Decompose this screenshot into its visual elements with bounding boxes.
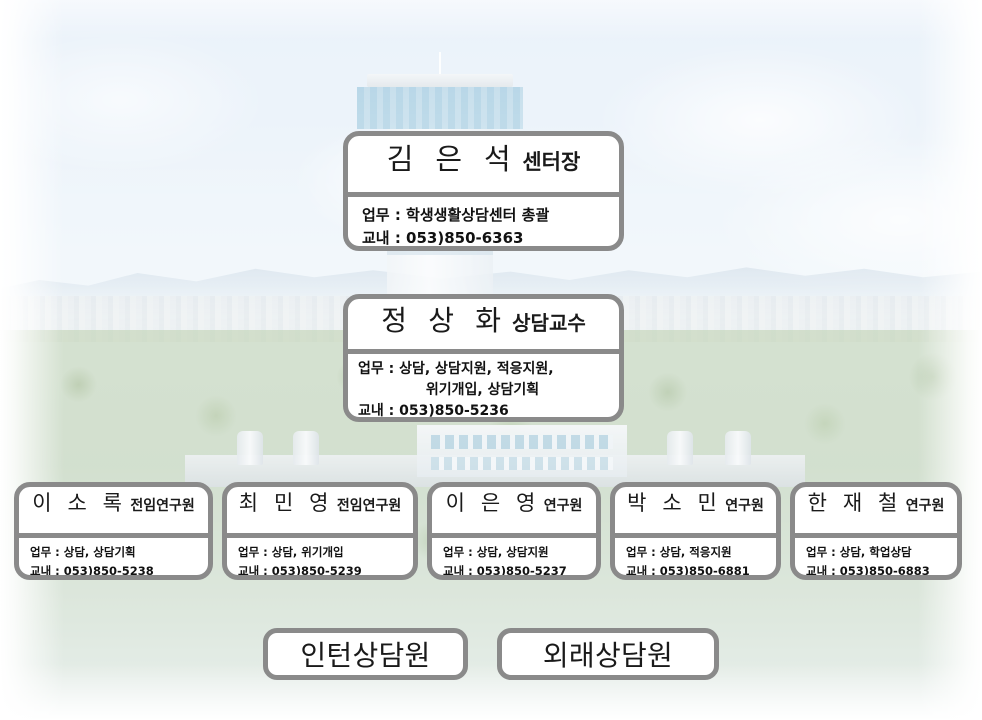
phone-text: 교내 : 053)850-6363 [362, 227, 619, 250]
node-label: 외래상담원 [543, 634, 673, 674]
person-name: 이 소 록 [32, 487, 130, 517]
phone-text: 교내 : 053)850-6881 [626, 562, 776, 580]
duty-text: 업무 : 상담, 학업상담 [806, 543, 957, 562]
phone-text: 교내 : 053)850-5238 [30, 562, 208, 580]
node-header: 정 상 화 상담교수 [348, 299, 619, 349]
person-title: 전임연구원 [337, 495, 401, 515]
person-title: 연구원 [544, 495, 583, 515]
node-details: 업무 : 상담, 적응지원 교내 : 053)850-6881 [615, 538, 776, 580]
node-details: 업무 : 상담, 학업상담 교내 : 053)850-6883 [795, 538, 957, 580]
node-external-counselor[interactable]: 외래상담원 [497, 628, 719, 680]
person-title: 연구원 [906, 495, 945, 515]
node-researcher-4[interactable]: 박 소 민 연구원 업무 : 상담, 적응지원 교내 : 053)850-688… [610, 482, 781, 580]
node-researcher-5[interactable]: 한 재 철 연구원 업무 : 상담, 학업상담 교내 : 053)850-688… [790, 482, 962, 580]
person-name: 정 상 화 [381, 299, 512, 339]
node-intern-counselor[interactable]: 인턴상담원 [263, 628, 468, 680]
node-details: 업무 : 학생생활상담센터 총괄 교내 : 053)850-6363 [348, 197, 619, 251]
node-header: 박 소 민 연구원 [615, 487, 776, 533]
duty-text-line1: 업무 : 상담, 상담지원, 적응지원, [358, 359, 619, 380]
phone-text: 교내 : 053)850-5239 [238, 562, 413, 580]
person-title: 상담교수 [512, 307, 586, 336]
duty-text: 업무 : 상담, 적응지원 [626, 543, 776, 562]
node-researcher-2[interactable]: 최 민 영 전임연구원 업무 : 상담, 위기개입 교내 : 053)850-5… [222, 482, 418, 580]
node-header: 김 은 석 센터장 [348, 136, 619, 192]
duty-text: 업무 : 상담, 상담기획 [30, 543, 208, 562]
node-details: 업무 : 상담, 상담지원, 적응지원, 위기개입, 상담기획 교내 : 053… [348, 354, 619, 422]
node-label: 인턴상담원 [300, 634, 430, 674]
phone-text: 교내 : 053)850-5236 [358, 401, 619, 422]
duty-text: 업무 : 상담, 상담지원 [443, 543, 596, 562]
node-header: 한 재 철 연구원 [795, 487, 957, 533]
person-title: 연구원 [725, 495, 764, 515]
node-counseling-professor[interactable]: 정 상 화 상담교수 업무 : 상담, 상담지원, 적응지원, 위기개입, 상담… [343, 294, 624, 422]
node-researcher-3[interactable]: 이 은 영 연구원 업무 : 상담, 상담지원 교내 : 053)850-523… [427, 482, 601, 580]
duty-text: 업무 : 상담, 위기개입 [238, 543, 413, 562]
node-header: 최 민 영 전임연구원 [227, 487, 413, 533]
person-name: 김 은 석 [387, 136, 523, 178]
duty-text: 업무 : 학생생활상담센터 총괄 [362, 204, 619, 227]
node-details: 업무 : 상담, 상담기획 교내 : 053)850-5238 [19, 538, 208, 580]
node-details: 업무 : 상담, 상담지원 교내 : 053)850-5237 [432, 538, 596, 580]
node-center-director[interactable]: 김 은 석 센터장 업무 : 학생생활상담센터 총괄 교내 : 053)850-… [343, 131, 624, 251]
node-header: 이 은 영 연구원 [432, 487, 596, 533]
person-name: 최 민 영 [239, 487, 337, 517]
person-title: 센터장 [522, 146, 580, 176]
org-chart-page: 김 은 석 센터장 업무 : 학생생활상담센터 총괄 교내 : 053)850-… [0, 0, 982, 720]
person-name: 박 소 민 [627, 487, 725, 517]
person-name: 이 은 영 [446, 487, 544, 517]
node-researcher-1[interactable]: 이 소 록 전임연구원 업무 : 상담, 상담기획 교내 : 053)850-5… [14, 482, 213, 580]
duty-text-line2: 위기개입, 상담기획 [358, 380, 619, 401]
node-details: 업무 : 상담, 위기개입 교내 : 053)850-5239 [227, 538, 413, 580]
person-name: 한 재 철 [808, 487, 906, 517]
phone-text: 교내 : 053)850-6883 [806, 562, 957, 580]
phone-text: 교내 : 053)850-5237 [443, 562, 596, 580]
person-title: 전임연구원 [130, 495, 194, 515]
node-header: 이 소 록 전임연구원 [19, 487, 208, 533]
